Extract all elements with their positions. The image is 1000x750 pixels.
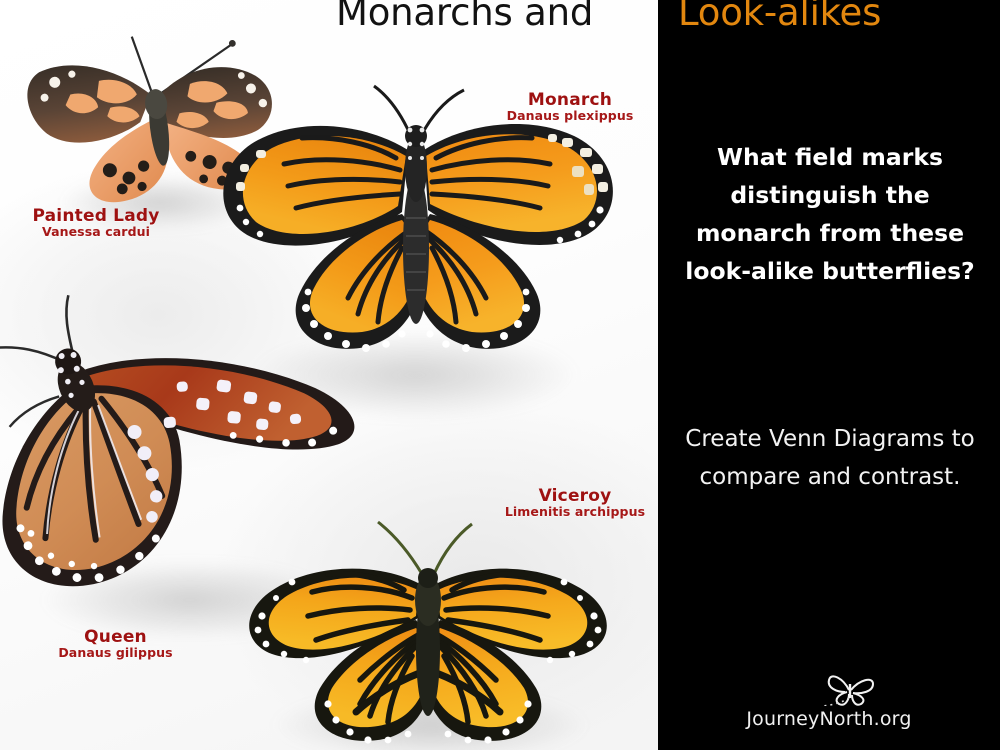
- slide-canvas: Painted Lady Vanessa cardui Monarch Dana…: [0, 0, 1000, 750]
- species-label-viceroy: Viceroy Limenitis archippus: [495, 487, 655, 519]
- queen-scientific-name: Danaus gilippus: [28, 646, 203, 660]
- info-panel: Look-alikes What field marks distinguish…: [658, 0, 1000, 750]
- species-label-monarch: Monarch Danaus plexippus: [492, 91, 648, 123]
- logo-text: JourneyNorth.org: [658, 708, 1000, 730]
- monarch-scientific-name: Danaus plexippus: [492, 109, 648, 123]
- queen-common-name: Queen: [28, 628, 203, 646]
- species-label-queen: Queen Danaus gilippus: [28, 628, 203, 660]
- painted-lady-scientific-name: Vanessa cardui: [6, 225, 186, 239]
- question-text: What field marks distinguish the monarch…: [680, 138, 980, 290]
- slide-title-part-two: Look-alikes: [678, 0, 998, 34]
- slide-title-part-one: Monarchs and: [336, 0, 656, 34]
- monarch-common-name: Monarch: [492, 91, 648, 109]
- journeynorth-logo[interactable]: JourneyNorth.org: [658, 660, 1000, 740]
- viceroy-image: [232, 520, 632, 750]
- viceroy-scientific-name: Limenitis archippus: [495, 505, 655, 519]
- viceroy-common-name: Viceroy: [495, 487, 655, 505]
- painted-lady-common-name: Painted Lady: [6, 207, 186, 225]
- species-label-painted-lady: Painted Lady Vanessa cardui: [6, 207, 186, 239]
- butterfly-photo-collage: Painted Lady Vanessa cardui Monarch Dana…: [0, 0, 658, 750]
- task-text: Create Venn Diagrams to compare and cont…: [680, 420, 980, 496]
- butterfly-icon: [823, 662, 877, 706]
